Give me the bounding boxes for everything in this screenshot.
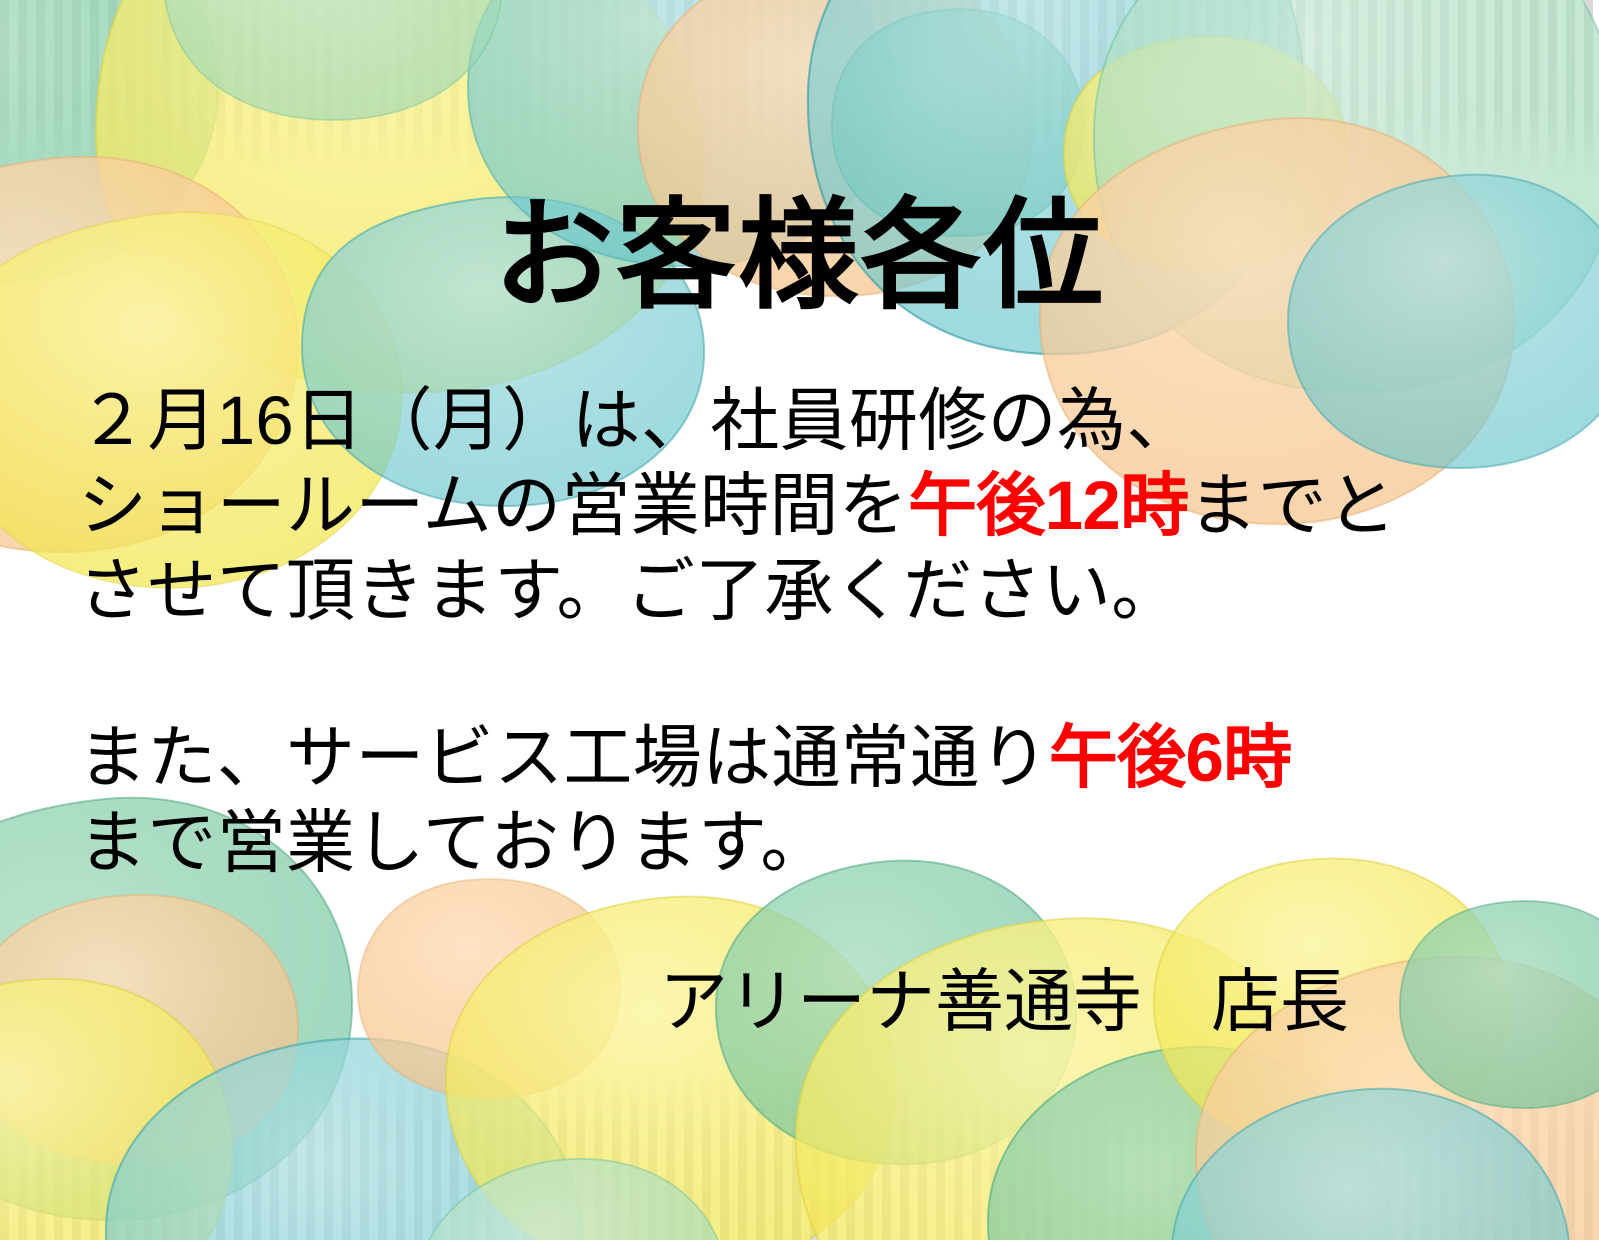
signature: アリーナ善通寺 店長 [0,958,1599,1046]
service-factory-closing-time-emphasis: 午後6時 [1049,719,1292,796]
body-line-5-text: まで営業しております。 [78,804,830,881]
paragraph-spacer [78,633,1538,715]
notice-poster: お客様各位 ２月16日（月）は、社員研修の為、 ショールームの営業時間を午後12… [0,0,1599,1240]
notice-body: ２月16日（月）は、社員研修の為、 ショールームの営業時間を午後12時までと さ… [78,378,1538,885]
body-line-1-text: ２月16日（月）は、社員研修の為、 [78,382,1196,459]
body-line-2: ショールームの営業時間を午後12時までと [78,463,1538,548]
body-line-3-text: させて頂きます。ご了承ください。 [78,552,1181,629]
body-line-2-prefix: ショールームの営業時間を [78,467,908,544]
body-line-2-suffix: までと [1188,467,1396,544]
body-line-1: ２月16日（月）は、社員研修の為、 [78,378,1538,463]
page-title: お客様各位 [0,186,1599,328]
body-line-4-prefix: また、サービス工場は通常通り [78,719,1049,796]
body-line-3: させて頂きます。ご了承ください。 [78,548,1538,633]
body-line-4: また、サービス工場は通常通り午後6時 [78,715,1538,800]
notice-content: お客様各位 ２月16日（月）は、社員研修の為、 ショールームの営業時間を午後12… [0,0,1599,1240]
showroom-closing-time-emphasis: 午後12時 [908,467,1188,544]
body-line-5: まで営業しております。 [78,800,1538,885]
